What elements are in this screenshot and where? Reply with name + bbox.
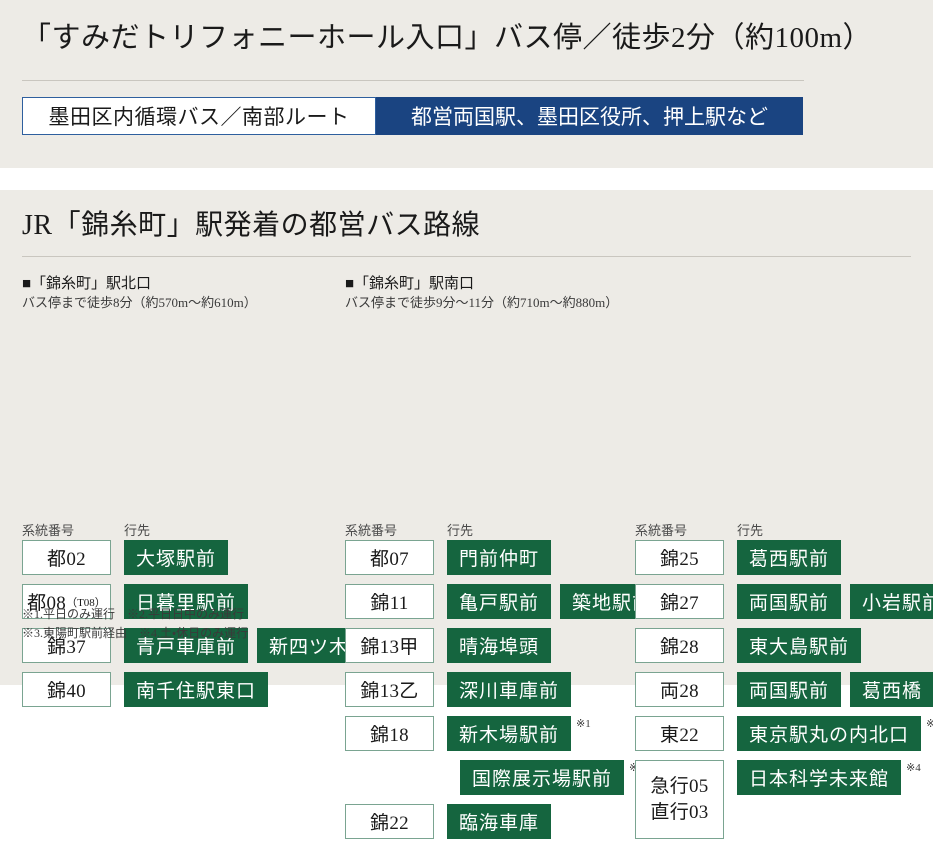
destination-list: 臨海車庫 (447, 804, 551, 839)
destination-badge: 両国駅前 (737, 584, 841, 619)
route-number-text: 錦27 (660, 588, 699, 615)
destination-item: 晴海埠頭 (447, 628, 551, 663)
route-row-inner: 急行05直行03日本科学未来館※4 (635, 760, 921, 839)
destination-list: 両国駅前葛西橋 (737, 672, 933, 707)
route-row-inner: 錦22臨海車庫 (345, 804, 551, 839)
route-row-inner: 両28両国駅前葛西橋 (635, 672, 933, 707)
route-number-text: 錦28 (660, 632, 699, 659)
destination-badge: 晴海埠頭 (447, 628, 551, 663)
destination-list: 国際展示場駅前※2 (460, 760, 644, 795)
footnotes: ※1.平日のみ運行 ※2.平日日中のみ運行 ※3.東陽町駅前経由 ※4.土・休日… (22, 605, 248, 643)
route-number-text: 錦11 (370, 588, 408, 615)
toei-bus-lines-panel: JR「錦糸町」駅発着の都営バス路線 ■「錦糸町」駅北口 バス停まで徒歩8分（約5… (0, 190, 933, 685)
route-number-line: 直行03 (650, 800, 708, 826)
route-number-box: 急行05直行03 (635, 760, 724, 839)
bus-stop-panel: 「すみだトリフォニーホール入口」バス停／徒歩2分（約100m） 墨田区内循環バス… (0, 0, 933, 168)
destination-item: 東大島駅前 (737, 628, 861, 663)
destination-item: 南千住駅東口 (124, 672, 268, 707)
route-number-box: 錦22 (345, 804, 434, 839)
route-number-text: 東22 (660, 720, 699, 747)
route-number-text: 錦18 (370, 720, 409, 747)
destination-badge: 葛西駅前 (737, 540, 841, 575)
footnote-line-1: ※1.平日のみ運行 ※2.平日日中のみ運行 (22, 605, 248, 624)
top-panel-divider (22, 80, 804, 81)
destination-badge: 両国駅前 (737, 672, 841, 707)
destination-item: 臨海車庫 (447, 804, 551, 839)
route-row-inner: 錦18新木場駅前※1 (345, 716, 591, 751)
route-row-inner: 都07門前仲町 (345, 540, 551, 575)
route-row-inner: 錦13乙深川車庫前 (345, 672, 571, 707)
destination-badge: 小岩駅前 (850, 584, 933, 619)
destination-item: 両国駅前 (737, 584, 841, 619)
circulator-route-destinations: 都営両国駅、墨田区役所、押上駅など (376, 97, 803, 135)
route-number-box: 錦40 (22, 672, 111, 707)
destination-list: 晴海埠頭 (447, 628, 551, 663)
route-row-inner: 錦11亀戸駅前築地駅前 (345, 584, 664, 619)
destination-item: 新木場駅前※1 (447, 716, 591, 751)
destination-badge: 国際展示場駅前 (460, 760, 624, 795)
route-number-box: 錦11 (345, 584, 434, 619)
route-number-text: 錦22 (370, 808, 409, 835)
destination-item: 門前仲町 (447, 540, 551, 575)
page-root: 「すみだトリフォニーホール入口」バス停／徒歩2分（約100m） 墨田区内循環バス… (0, 0, 933, 685)
exit-heading-north: ■「錦糸町」駅北口 バス停まで徒歩8分（約570m～約610m） (22, 275, 257, 312)
route-number-box: 錦25 (635, 540, 724, 575)
exit-walk-south: バス停まで徒歩9分～11分（約710m～約880m） (345, 294, 618, 312)
route-number-box: 両28 (635, 672, 724, 707)
destination-badge: 南千住駅東口 (124, 672, 268, 707)
route-row-inner: 錦13甲晴海埠頭 (345, 628, 551, 663)
main-panel-divider (22, 256, 911, 257)
panel-title: JR「錦糸町」駅発着の都営バス路線 (22, 208, 480, 244)
destination-item: 深川車庫前 (447, 672, 571, 707)
destination-item: 東京駅丸の内北口※3 (737, 716, 933, 751)
destination-list: 葛西駅前 (737, 540, 841, 575)
route-row-inner: 錦28東大島駅前 (635, 628, 861, 663)
destination-list: 南千住駅東口 (124, 672, 268, 707)
route-number-box: 東22 (635, 716, 724, 751)
route-number-box: 錦18 (345, 716, 434, 751)
route-number-text: 都07 (370, 544, 409, 571)
destination-item: 日本科学未来館※4 (737, 760, 921, 795)
route-number-box: 錦13甲 (345, 628, 434, 663)
destination-list: 日本科学未来館※4 (737, 760, 921, 795)
route-row-inner: 都02大塚駅前 (22, 540, 228, 575)
route-number-box: 錦13乙 (345, 672, 434, 707)
destination-badge: 門前仲町 (447, 540, 551, 575)
route-number-box: 都07 (345, 540, 434, 575)
destination-list: 東京駅丸の内北口※3 (737, 716, 933, 751)
route-number-box: 錦27 (635, 584, 724, 619)
destination-list: 亀戸駅前築地駅前 (447, 584, 664, 619)
destination-footnote-marker: ※4 (906, 761, 921, 774)
exit-name-north: ■「錦糸町」駅北口 (22, 275, 257, 294)
destination-badge: 新木場駅前 (447, 716, 571, 751)
destination-list: 両国駅前小岩駅前 (737, 584, 933, 619)
exit-walk-north: バス停まで徒歩8分（約570m～約610m） (22, 294, 257, 312)
bus-stop-title: 「すみだトリフォニーホール入口」バス停／徒歩2分（約100m） (22, 18, 872, 58)
destination-item: 葛西駅前 (737, 540, 841, 575)
route-number-text: 錦40 (47, 676, 86, 703)
destination-list: 東大島駅前 (737, 628, 861, 663)
route-row-inner: 東22東京駅丸の内北口※3 (635, 716, 933, 751)
destination-badge: 葛西橋 (850, 672, 933, 707)
destination-badge: 深川車庫前 (447, 672, 571, 707)
route-row-inner: 錦40南千住駅東口 (22, 672, 268, 707)
column-header-destination: 行先 (124, 520, 150, 539)
destination-badge: 日本科学未来館 (737, 760, 901, 795)
destination-badge: 東大島駅前 (737, 628, 861, 663)
destination-badge: 東京駅丸の内北口 (737, 716, 921, 751)
route-number-text: 両28 (660, 676, 699, 703)
route-row-inner: 錦25葛西駅前 (635, 540, 841, 575)
circulator-route-name: 墨田区内循環バス／南部ルート (22, 97, 376, 135)
destination-footnote-marker: ※3 (926, 717, 933, 730)
destination-item: 亀戸駅前 (447, 584, 551, 619)
destination-item: 葛西橋 (850, 672, 933, 707)
destination-item: 大塚駅前 (124, 540, 228, 575)
destination-list: 大塚駅前 (124, 540, 228, 575)
destination-badge: 大塚駅前 (124, 540, 228, 575)
route-number-text: 都02 (47, 544, 86, 571)
destination-item: 国際展示場駅前※2 (460, 760, 644, 795)
route-number-text: 錦13甲 (360, 632, 418, 659)
destination-item: 両国駅前 (737, 672, 841, 707)
destination-badge: 臨海車庫 (447, 804, 551, 839)
route-row-inner: 錦27両国駅前小岩駅前 (635, 584, 933, 619)
destination-list: 門前仲町 (447, 540, 551, 575)
destination-item: 小岩駅前 (850, 584, 933, 619)
destination-badge: 亀戸駅前 (447, 584, 551, 619)
column-header-route-no: 系統番号 (635, 520, 687, 539)
footnote-line-2: ※3.東陽町駅前経由 ※4.土・休日のみ運行 (22, 624, 248, 643)
destination-list: 新木場駅前※1 (447, 716, 591, 751)
column-header-destination: 行先 (447, 520, 473, 539)
column-header-route-no: 系統番号 (22, 520, 74, 539)
route-row-inner: 国際展示場駅前※2 (447, 760, 644, 795)
route-number-line: 急行05 (650, 774, 708, 800)
exit-name-south: ■「錦糸町」駅南口 (345, 275, 618, 294)
route-number-text: 錦13乙 (360, 676, 418, 703)
route-number-box: 錦28 (635, 628, 724, 663)
circulator-route-bar: 墨田区内循環バス／南部ルート 都営両国駅、墨田区役所、押上駅など (22, 97, 803, 135)
exit-heading-south: ■「錦糸町」駅南口 バス停まで徒歩9分～11分（約710m～約880m） (345, 275, 618, 312)
column-header-route-no: 系統番号 (345, 520, 397, 539)
route-number-text: 錦25 (660, 544, 699, 571)
route-number-box: 都02 (22, 540, 111, 575)
column-header-destination: 行先 (737, 520, 763, 539)
destination-footnote-marker: ※1 (576, 717, 591, 730)
destination-list: 深川車庫前 (447, 672, 571, 707)
